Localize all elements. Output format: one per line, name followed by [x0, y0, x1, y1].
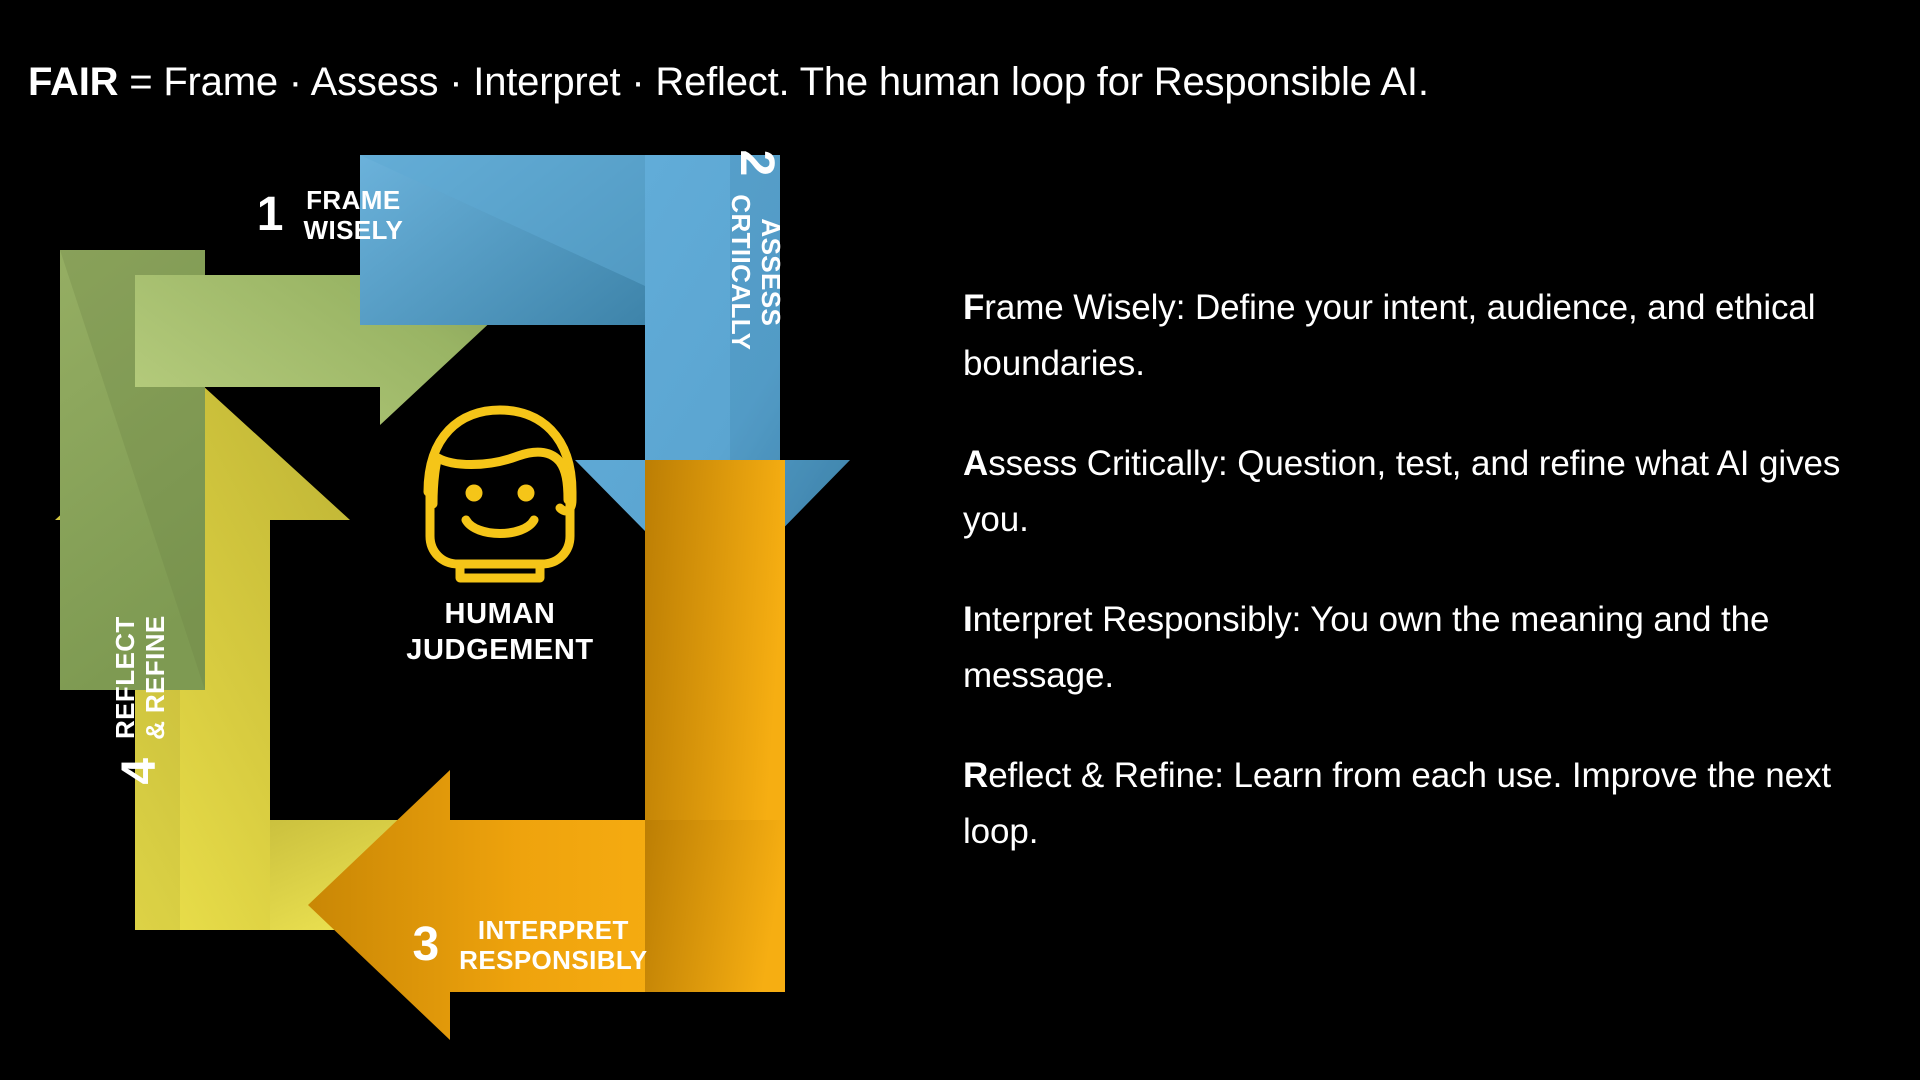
arrow-text-2-line1: ASSESS	[756, 218, 786, 326]
paragraph-body-a: ssess Critically: Question, test, and re…	[963, 444, 1840, 539]
arrow-label-3: 3 INTERPRET RESPONSIBLY	[360, 890, 700, 1000]
arrow-text-1-line1: FRAME	[306, 185, 400, 215]
center-caption: HUMAN JUDGEMENT	[330, 596, 670, 668]
description-paragraph-assess: Assess Critically: Question, test, and r…	[963, 436, 1863, 548]
arrow-text-1: FRAME WISELY	[304, 185, 404, 245]
description-paragraph-reflect: Reflect & Refine: Learn from each use. I…	[963, 748, 1863, 860]
human-judgement-block: HUMAN JUDGEMENT	[330, 388, 670, 668]
paragraph-cap-i: I	[963, 600, 973, 639]
arrow-text-4-line1: REFLECT	[110, 616, 140, 739]
arrow-label-1: 1 FRAME WISELY	[170, 160, 490, 270]
eye-left-icon	[466, 485, 483, 502]
arrow-text-3-line1: INTERPRET	[478, 915, 629, 945]
arrow-number-4: 4	[116, 758, 164, 785]
eye-right-icon	[518, 485, 535, 502]
arrow-number-3: 3	[412, 921, 439, 969]
title-bold-prefix: FAIR	[28, 60, 118, 104]
paragraph-body-f: rame Wisely: Define your intent, audienc…	[963, 288, 1815, 383]
arrow-text-2-line2: CRTIICALLY	[726, 194, 756, 350]
arrow-text-4-line2: & REFINE	[140, 615, 170, 740]
center-caption-line2: JUDGEMENT	[330, 632, 670, 668]
paragraph-cap-a: A	[963, 444, 988, 483]
description-paragraph-interpret: Interpret Responsibly: You own the meani…	[963, 592, 1863, 704]
arrow-text-3: INTERPRET RESPONSIBLY	[459, 915, 647, 975]
description-paragraph-frame: Frame Wisely: Define your intent, audien…	[963, 280, 1863, 392]
center-caption-line1: HUMAN	[445, 598, 556, 630]
arrow-number-2: 2	[732, 150, 780, 177]
arrow-text-4: REFLECT & REFINE	[110, 615, 170, 740]
paragraph-cap-r: R	[963, 756, 988, 795]
fair-loop-diagram: HUMAN JUDGEMENT 1 FRAME WISELY 2 ASSESS …	[30, 130, 960, 1050]
arrow-text-1-line2: WISELY	[304, 215, 404, 245]
paragraph-body-i: nterpret Responsibly: You own the meanin…	[963, 600, 1769, 695]
arrow-text-3-line2: RESPONSIBLY	[459, 945, 647, 975]
arrow-number-1: 1	[257, 191, 284, 239]
poster-canvas: FAIR = Frame · Assess · Interpret · Refl…	[0, 0, 1920, 1080]
paragraph-body-r: eflect & Refine: Learn from each use. Im…	[963, 756, 1831, 851]
arrow-label-4: 4 REFLECT & REFINE	[90, 540, 190, 860]
arrow-text-2: ASSESS CRTIICALLY	[726, 194, 786, 350]
paragraph-cap-f: F	[963, 288, 984, 327]
description-list: Frame Wisely: Define your intent, audien…	[963, 245, 1863, 860]
arrow-label-2: 2 ASSESS CRTIICALLY	[706, 80, 806, 420]
human-face-icon	[400, 388, 600, 588]
